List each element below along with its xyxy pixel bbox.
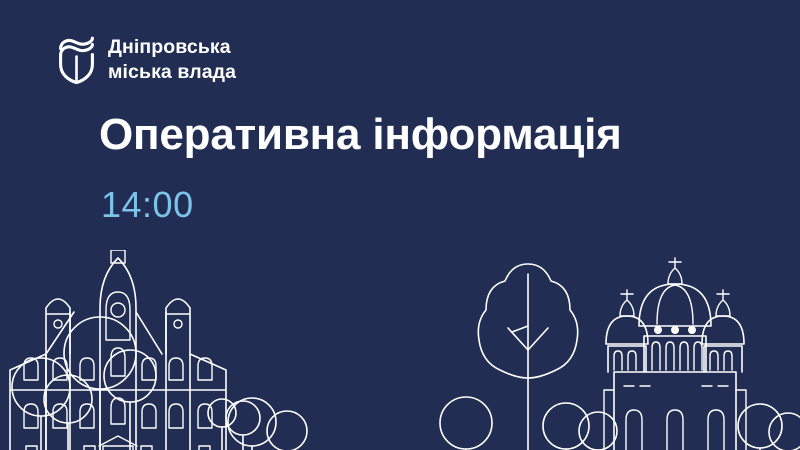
tree-4 [104,350,156,450]
tree-9 [543,403,589,450]
tree-9b [579,412,617,450]
shield-wave-logo-icon [58,36,95,84]
brand-line-1: Дніпровська [108,36,236,59]
tree-10 [738,404,782,450]
banner-canvas: Дніпровська міська влада Оперативна інфо… [0,0,800,450]
tree-11 [769,413,800,450]
brand-logo: Дніпровська міська влада [58,36,236,84]
city-hall-building [10,250,226,450]
brand-line-2: міська влада [108,61,236,84]
orthodox-cathedral [604,258,746,450]
dnipro-city-skyline [0,250,800,450]
brand-logo-text: Дніпровська міська влада [108,36,236,84]
tall-tree [478,264,577,450]
time-label: 14:00 [101,186,194,224]
tree-8 [440,397,492,450]
tree-5 [226,401,260,450]
page-title: Оперативна інформація [99,112,622,158]
tree-7 [267,411,307,450]
